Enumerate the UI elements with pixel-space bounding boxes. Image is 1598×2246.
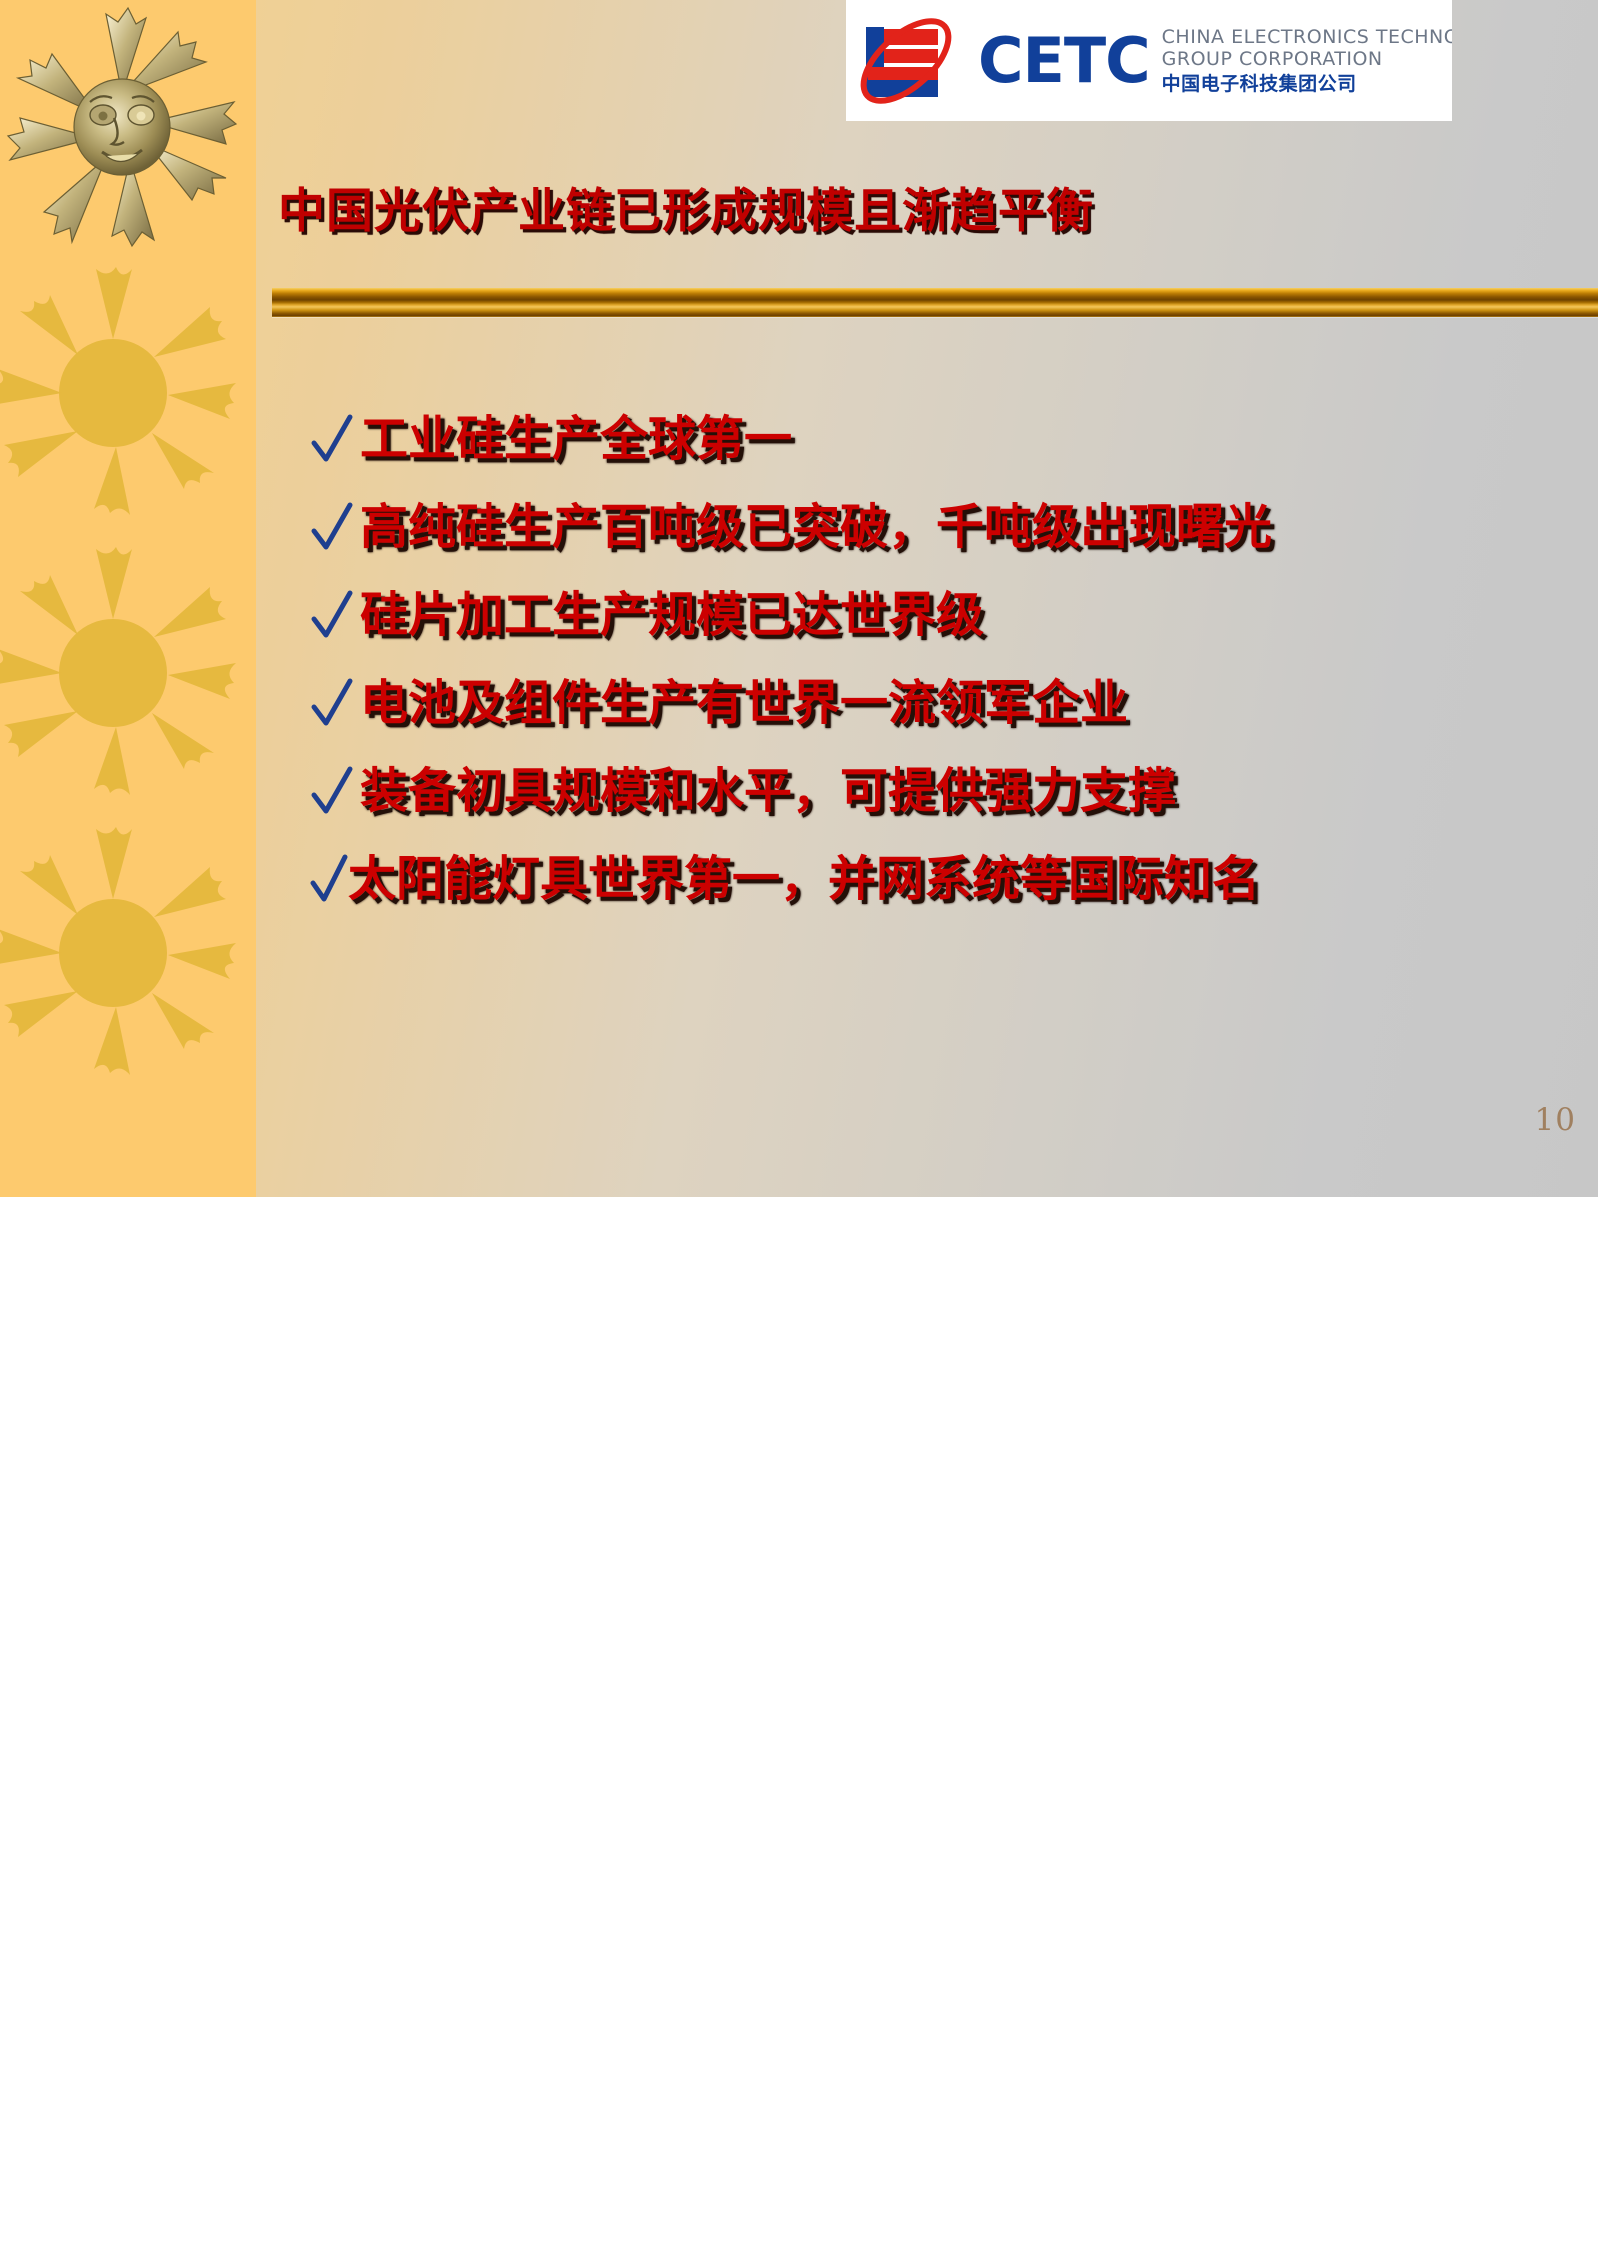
bullet-list: 工业硅生产全球第一 高纯硅生产百吨级已突破，千吨级出现曙光 硅片加工生产规模已达… [310, 395, 1580, 923]
bullet-item: 工业硅生产全球第一 [310, 395, 1580, 483]
flat-sun-icon [0, 265, 238, 515]
bullet-text: 工业硅生产全球第一 [360, 415, 792, 463]
bullet-item: 装备初具规模和水平，可提供强力支撑 [310, 747, 1580, 835]
cetc-logo-line3-chinese: 中国电子科技集团公司 [1162, 73, 1452, 95]
gold-divider-bar [272, 288, 1598, 317]
bullet-text: 高纯硅生产百吨级已突破，千吨级出现曙光 [360, 503, 1272, 551]
decor-sidebar [0, 0, 256, 1197]
cetc-logo-line1: CHINA ELECTRONICS TECHNOLOGY [1162, 26, 1452, 48]
flat-sun-icon [0, 825, 238, 1075]
check-mark-icon [310, 765, 354, 821]
check-mark-icon [310, 589, 354, 645]
cetc-logo-line2: GROUP CORPORATION [1162, 48, 1452, 70]
cetc-logo-subtext: CHINA ELECTRONICS TECHNOLOGY GROUP CORPO… [1162, 26, 1452, 95]
bullet-item: 高纯硅生产百吨级已突破，千吨级出现曙光 [310, 483, 1580, 571]
metallic-sun-face-icon [2, 2, 242, 250]
check-mark-icon [310, 501, 354, 557]
cetc-logo: CETC CHINA ELECTRONICS TECHNOLOGY GROUP … [846, 0, 1452, 121]
cetc-wordmark: CETC [978, 30, 1150, 92]
check-mark-icon [310, 853, 348, 909]
page-number: 10 [1535, 1102, 1576, 1138]
bullet-text: 硅片加工生产规模已达世界级 [360, 591, 984, 639]
page-whitespace [0, 1197, 1598, 2246]
bullet-text: 电池及组件生产有世界一流领军企业 [360, 679, 1128, 727]
slide-canvas: CETC CHINA ELECTRONICS TECHNOLOGY GROUP … [0, 0, 1598, 1197]
bullet-item: 硅片加工生产规模已达世界级 [310, 571, 1580, 659]
slide-page: CETC CHINA ELECTRONICS TECHNOLOGY GROUP … [0, 0, 1598, 2246]
bullet-item: 太阳能灯具世界第一，并网系统等国际知名 [310, 835, 1580, 923]
check-mark-icon [310, 677, 354, 733]
bullet-item: 电池及组件生产有世界一流领军企业 [310, 659, 1580, 747]
check-mark-icon [310, 413, 354, 469]
slide-title: 中国光伏产业链已形成规模且渐趋平衡 [278, 187, 1418, 236]
bullet-text: 装备初具规模和水平，可提供强力支撑 [360, 767, 1176, 815]
flat-sun-icon [0, 545, 238, 795]
cetc-ellipse-flag-mark-icon [850, 5, 982, 117]
bullet-text: 太阳能灯具世界第一，并网系统等国际知名 [348, 855, 1260, 903]
